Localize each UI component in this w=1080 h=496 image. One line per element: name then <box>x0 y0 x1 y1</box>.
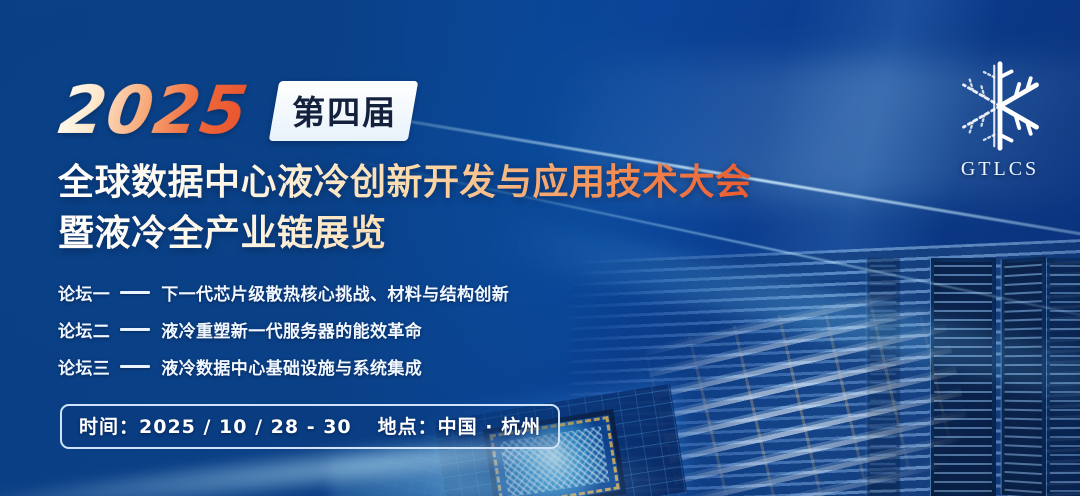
event-info-bar: 时间：2025 / 10 / 28 - 30 地点：中国 · 杭州 <box>60 404 560 449</box>
event-place: 地点：中国 · 杭州 <box>378 412 541 439</box>
forum-label: 论坛一 <box>58 280 110 305</box>
event-time: 时间：2025 / 10 / 28 - 30 <box>79 412 352 439</box>
headline: 全球数据中心液冷创新开发与应用技术大会 暨液冷全产业链展览 <box>58 160 752 257</box>
forum-label: 论坛二 <box>58 317 110 342</box>
logo-text: GTLCS <box>940 158 1060 181</box>
headline-line-1: 全球数据中心液冷创新开发与应用技术大会 <box>58 160 752 205</box>
forum-item: 论坛二 液冷重塑新一代服务器的能效革命 <box>58 311 509 347</box>
forum-text: 下一代芯片级散热核心挑战、材料与结构创新 <box>161 280 509 305</box>
forum-text: 液冷数据中心基础设施与系统集成 <box>161 354 422 379</box>
conference-banner: 2025 第四届 全球数据中心液冷创新开发与应用技术大会 暨液冷全产业链展览 论… <box>0 0 1080 496</box>
logo: GTLCS <box>940 58 1060 181</box>
edition-badge: 第四届 <box>268 81 418 141</box>
banner-content: 2025 第四届 全球数据中心液冷创新开发与应用技术大会 暨液冷全产业链展览 论… <box>0 0 1080 496</box>
year-row: 2025 第四届 <box>60 78 413 144</box>
edition-badge-label: 第四届 <box>292 86 397 134</box>
forum-list: 论坛一 下一代芯片级散热核心挑战、材料与结构创新 论坛二 液冷重塑新一代服务器的… <box>58 274 509 384</box>
snowflake-icon <box>952 58 1048 154</box>
forum-item: 论坛一 下一代芯片级散热核心挑战、材料与结构创新 <box>58 274 509 310</box>
forum-dash-icon <box>120 328 150 331</box>
forum-item: 论坛三 液冷数据中心基础设施与系统集成 <box>58 348 509 384</box>
headline-line-2: 暨液冷全产业链展览 <box>58 211 752 256</box>
year-label: 2025 <box>55 78 252 144</box>
forum-dash-icon <box>120 365 150 368</box>
forum-label: 论坛三 <box>58 354 110 379</box>
forum-text: 液冷重塑新一代服务器的能效革命 <box>161 317 422 342</box>
forum-dash-icon <box>120 291 150 294</box>
